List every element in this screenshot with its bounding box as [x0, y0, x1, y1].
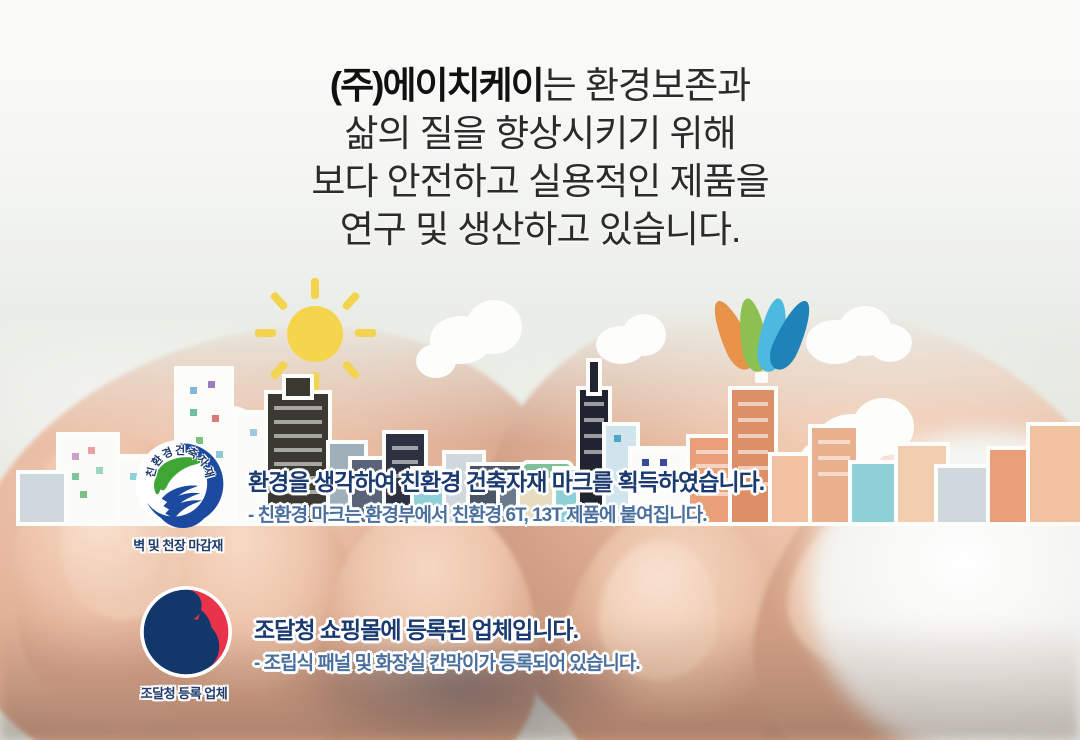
- certification-eco-text: 환경을 생각하여 친환경 건축자재 마크를 획득하였습니다. - 친환경 마크는…: [248, 463, 764, 527]
- promotional-banner: (주)에이치케이는 환경보존과 삶의 질을 향상시키기 위해 보다 안전하고 실…: [0, 0, 1080, 740]
- eco-friendly-building-material-mark-icon: 친환경건축자재 벽 및 천장 마감재: [118, 430, 238, 560]
- certification-row-eco: 친환경건축자재 벽 및 천장 마감재 환경을 생각하여 친환경 건축자재 마크를…: [118, 430, 764, 560]
- certification-procurement-headline: 조달청 쇼핑몰에 등록된 업체입니다.: [254, 611, 640, 645]
- page-title: (주)에이치케이는 환경보존과 삶의 질을 향상시키기 위해 보다 안전하고 실…: [0, 62, 1080, 254]
- procurement-mark-caption: 조달청 등록 업체: [122, 683, 246, 702]
- company-name: (주)에이치케이: [330, 65, 543, 106]
- certification-row-procurement: 조달청 등록 업체 조달청 쇼핑몰에 등록된 업체입니다. - 조립식 패널 및…: [124, 578, 640, 708]
- public-procurement-service-mark-icon: 조달청 등록 업체: [124, 578, 244, 708]
- taegeuk-graphic: [140, 586, 232, 678]
- headline-line-2: 삶의 질을 향상시키기 위해: [0, 110, 1080, 158]
- eco-mark-caption: 벽 및 천장 마감재: [116, 535, 240, 554]
- headline-line-1-rest: 는 환경보존과: [543, 65, 751, 106]
- eco-mark-arc-char: 건: [175, 442, 185, 458]
- certification-eco-subline: - 친환경 마크는 환경부에서 친환경 6T, 13T 제품에 붙여집니다.: [248, 500, 764, 527]
- headline-line-3: 보다 안전하고 실용적인 제품을: [0, 158, 1080, 206]
- certification-procurement-text: 조달청 쇼핑몰에 등록된 업체입니다. - 조립식 패널 및 화장실 칸막이가 …: [254, 611, 640, 675]
- certification-procurement-subline: - 조립식 패널 및 화장실 칸막이가 등록되어 있습니다.: [254, 648, 640, 675]
- headline-line-1: (주)에이치케이는 환경보존과: [0, 62, 1080, 110]
- headline-line-4: 연구 및 생산하고 있습니다.: [0, 206, 1080, 254]
- eco-mark-arc-text: 친환경건축자재: [134, 434, 226, 526]
- certification-eco-headline: 환경을 생각하여 친환경 건축자재 마크를 획득하였습니다.: [248, 463, 764, 497]
